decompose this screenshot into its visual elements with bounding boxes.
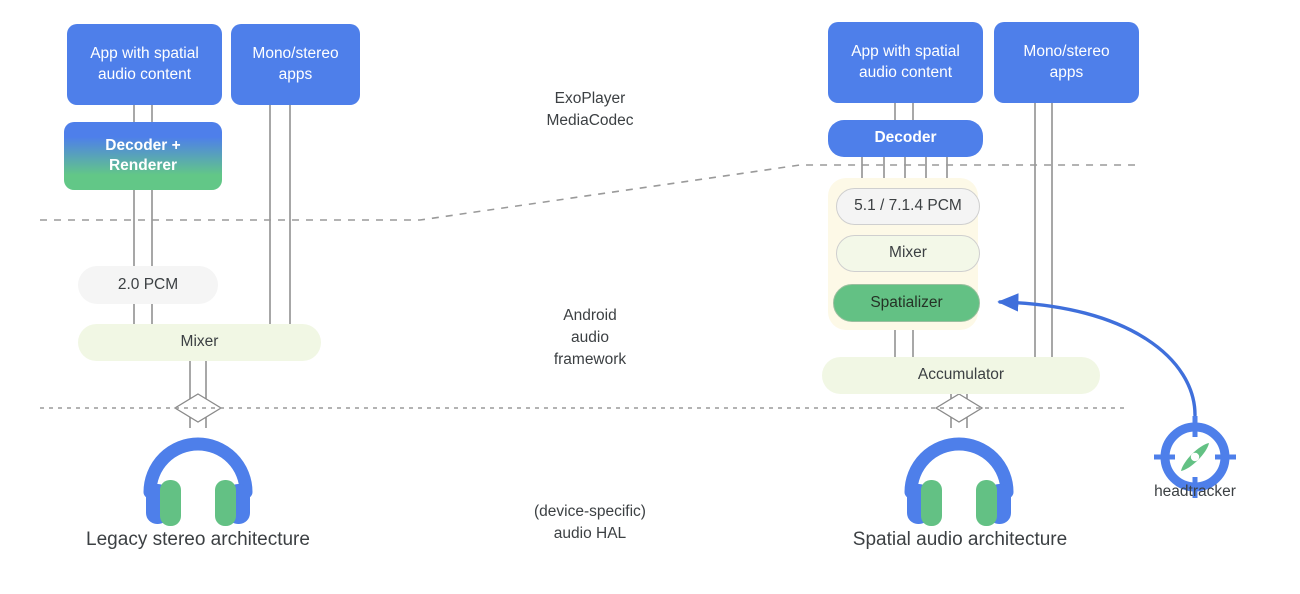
headphones-icon-right [907, 444, 1011, 526]
left-mono-lines [270, 105, 290, 325]
right-spatializer-box[interactable]: Spatializer [833, 284, 980, 322]
center-note-audio-hal: (device-specific) audio HAL [450, 479, 730, 545]
left-mixer-label: Mixer [181, 332, 219, 352]
left-architecture-title-text: Legacy stereo architecture [86, 529, 310, 550]
left-decoder-lines [134, 190, 152, 325]
right-accumulator-to-headphones [951, 392, 967, 428]
right-app-spatial-label: App with spatial audio content [851, 42, 960, 82]
left-pcm-box: 2.0 PCM [78, 266, 218, 304]
right-mixer-label: Mixer [889, 243, 927, 263]
right-accumulator-label: Accumulator [918, 365, 1004, 385]
right-decoder-box[interactable]: Decoder [828, 120, 983, 157]
center-note-exoplayer: ExoPlayer MediaCodec [450, 66, 730, 132]
right-hal-diamond [936, 394, 982, 422]
headphones-icon-left [146, 444, 250, 526]
right-app-mono-box[interactable]: Mono/stereo apps [994, 22, 1139, 103]
headtracker-label: headtracker [1120, 481, 1270, 503]
left-pcm-label: 2.0 PCM [118, 275, 178, 295]
left-app-spatial-label: App with spatial audio content [90, 44, 199, 84]
left-decoder-renderer-box[interactable]: Decoder + Renderer [64, 122, 222, 190]
left-decoder-renderer-label: Decoder + Renderer [105, 136, 180, 176]
diagram-canvas: App with spatial audio content Mono/ster… [0, 0, 1300, 594]
right-app-spatial-box[interactable]: App with spatial audio content [828, 22, 983, 103]
left-architecture-title: Legacy stereo architecture [48, 527, 348, 554]
right-decoder-label: Decoder [874, 128, 936, 148]
center-note-audio-framework-text: Android audio framework [554, 307, 626, 368]
right-spatializer-label: Spatializer [870, 293, 942, 313]
center-note-audio-hal-text: (device-specific) audio HAL [534, 503, 646, 542]
left-app-spatial-box[interactable]: App with spatial audio content [67, 24, 222, 105]
right-pcm-box: 5.1 / 7.1.4 PCM [836, 188, 980, 225]
left-hal-diamond [175, 394, 221, 422]
right-mixer-box[interactable]: Mixer [836, 235, 980, 272]
right-app-mono-label: Mono/stereo apps [1023, 42, 1109, 82]
left-app-to-decoder [134, 105, 152, 123]
right-architecture-title: Spatial audio architecture [810, 527, 1110, 554]
left-mixer-to-headphones [190, 360, 206, 428]
center-note-exoplayer-text: ExoPlayer MediaCodec [546, 90, 633, 129]
left-mixer-box[interactable]: Mixer [78, 324, 321, 361]
left-app-mono-box[interactable]: Mono/stereo apps [231, 24, 360, 105]
right-mono-lines [1035, 103, 1052, 358]
left-app-mono-label: Mono/stereo apps [252, 44, 338, 84]
center-note-audio-framework: Android audio framework [450, 283, 730, 371]
right-app-to-decoder [895, 103, 913, 120]
right-architecture-title-text: Spatial audio architecture [853, 529, 1067, 550]
headtracker-label-text: headtracker [1154, 483, 1236, 500]
right-accumulator-box[interactable]: Accumulator [822, 357, 1100, 394]
right-pcm-label: 5.1 / 7.1.4 PCM [854, 196, 962, 216]
